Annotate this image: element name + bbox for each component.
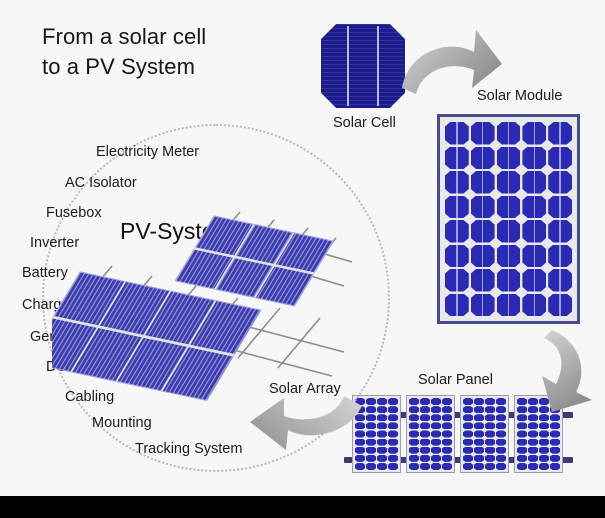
panel-cell (388, 414, 398, 421)
solar-array-graphic (52, 210, 352, 410)
module-cell (548, 294, 572, 317)
panel-cell (409, 406, 419, 413)
module-cell (548, 269, 572, 292)
panel-cell (485, 430, 495, 437)
module-cell (522, 122, 546, 145)
panel-cell (528, 430, 538, 437)
bottom-bar (0, 496, 605, 518)
panel-cell (463, 398, 473, 405)
module-cell (445, 171, 469, 194)
arrow-panel-to-array-icon (244, 392, 368, 456)
panel-cell (474, 463, 484, 470)
panel-cell (550, 463, 560, 470)
panel-cell (517, 430, 527, 437)
panel-cell (388, 398, 398, 405)
panel-cell (528, 439, 538, 446)
panel-cell (485, 455, 495, 462)
panel-cell (388, 439, 398, 446)
panel-cell (550, 422, 560, 429)
panel-cell (485, 398, 495, 405)
panel-cell (474, 430, 484, 437)
panel-cell (409, 430, 419, 437)
panel-cell (420, 439, 430, 446)
panel-cell (377, 447, 387, 454)
module-cell (497, 171, 521, 194)
panel-cell (409, 463, 419, 470)
panel-cell (420, 447, 430, 454)
panel-cell (409, 422, 419, 429)
cell-busbar-1 (347, 26, 349, 106)
panel-cell (409, 455, 419, 462)
panel-cell (496, 455, 506, 462)
panel-cell (550, 414, 560, 421)
panel-cell (496, 406, 506, 413)
module-cell (522, 196, 546, 219)
panel-cell (496, 422, 506, 429)
panel-cell (377, 414, 387, 421)
panel-cell (463, 455, 473, 462)
panel-cell (485, 463, 495, 470)
panel-cell (528, 414, 538, 421)
panel-cell (463, 439, 473, 446)
pv-component-ac-isolator: AC Isolator (65, 175, 137, 191)
arrow-module-to-panel-icon (522, 326, 605, 414)
module-cell (522, 147, 546, 170)
panel-cell (442, 463, 452, 470)
panel-cell (550, 439, 560, 446)
module-cell (548, 220, 572, 243)
pv-component-electricity-meter: Electricity Meter (96, 144, 199, 160)
module-cell (522, 269, 546, 292)
solar-module-graphic (437, 114, 580, 324)
panel-cell (463, 422, 473, 429)
module-cell (497, 294, 521, 317)
module-cell (471, 171, 495, 194)
module-cell (497, 220, 521, 243)
panel-cell (377, 439, 387, 446)
module-cell (471, 220, 495, 243)
module-cell (471, 294, 495, 317)
solar-cell-graphic (321, 24, 405, 108)
module-cell (445, 122, 469, 145)
panel-cell (463, 414, 473, 421)
panel-cell (420, 422, 430, 429)
panel-cell (431, 414, 441, 421)
module-cell (497, 122, 521, 145)
module-cell (445, 269, 469, 292)
panel-cell (377, 422, 387, 429)
panel-cell (442, 439, 452, 446)
panel-cell (366, 463, 376, 470)
module-cell (522, 294, 546, 317)
module-cell (445, 245, 469, 268)
panel-cell (377, 463, 387, 470)
panel-cell (420, 414, 430, 421)
panel-cell (474, 398, 484, 405)
panel-cell (377, 455, 387, 462)
panel-cell (474, 439, 484, 446)
panel-cell (539, 463, 549, 470)
module-cell (471, 122, 495, 145)
panel-cell (550, 455, 560, 462)
module-cell (522, 245, 546, 268)
module-cell (522, 171, 546, 194)
module-cell (522, 220, 546, 243)
panel-cell (485, 439, 495, 446)
solar-panel-label: Solar Panel (418, 372, 493, 388)
solar-module-cell-grid (445, 122, 572, 316)
pv-component-tracking-system: Tracking System (135, 441, 242, 457)
panel-cell (539, 422, 549, 429)
panel-cell (517, 463, 527, 470)
panel-cell (485, 406, 495, 413)
solar-cell-label: Solar Cell (333, 115, 396, 131)
panel-cell (539, 430, 549, 437)
panel-cell (442, 447, 452, 454)
panel-cell (517, 422, 527, 429)
panel-module-2-grid (409, 398, 452, 470)
module-cell (497, 269, 521, 292)
cell-fingers (321, 24, 405, 108)
panel-cell (463, 406, 473, 413)
panel-cell (496, 439, 506, 446)
panel-cell (474, 422, 484, 429)
panel-cell (517, 439, 527, 446)
module-cell (548, 147, 572, 170)
array-panel-group-back (175, 216, 333, 306)
module-cell (445, 147, 469, 170)
diagram-canvas: From a solar cell to a PV System Solar C… (0, 0, 605, 518)
module-cell (471, 269, 495, 292)
module-cell (548, 196, 572, 219)
panel-cell (528, 463, 538, 470)
cell-busbar-2 (377, 26, 379, 106)
panel-cell (431, 422, 441, 429)
panel-cell (442, 414, 452, 421)
panel-cell (377, 406, 387, 413)
panel-cell (474, 455, 484, 462)
panel-cell (485, 414, 495, 421)
panel-cell (409, 398, 419, 405)
panel-cell (517, 447, 527, 454)
panel-cell (388, 430, 398, 437)
module-cell (445, 220, 469, 243)
module-cell (471, 245, 495, 268)
panel-cell (539, 439, 549, 446)
panel-cell (474, 406, 484, 413)
panel-cell (388, 406, 398, 413)
title-line-2: to a PV System (42, 52, 206, 82)
panel-cell (463, 463, 473, 470)
module-cell (471, 196, 495, 219)
panel-cell (420, 406, 430, 413)
panel-cell (528, 447, 538, 454)
panel-cell (485, 447, 495, 454)
module-cell (445, 294, 469, 317)
module-cell (445, 196, 469, 219)
panel-cell (474, 447, 484, 454)
panel-cell (431, 430, 441, 437)
panel-cell (388, 463, 398, 470)
panel-cell (442, 422, 452, 429)
panel-cell (539, 414, 549, 421)
panel-cell (377, 430, 387, 437)
panel-cell (496, 463, 506, 470)
panel-cell (539, 447, 549, 454)
panel-cell (496, 414, 506, 421)
panel-cell (539, 455, 549, 462)
module-cell (497, 147, 521, 170)
panel-cell (377, 398, 387, 405)
panel-cell (550, 447, 560, 454)
panel-module-3-grid (463, 398, 506, 470)
panel-cell (442, 455, 452, 462)
page-title: From a solar cell to a PV System (42, 22, 206, 82)
panel-cell (431, 398, 441, 405)
panel-cell (409, 414, 419, 421)
panel-cell (431, 447, 441, 454)
panel-cell (517, 414, 527, 421)
panel-cell (442, 430, 452, 437)
module-cell (548, 245, 572, 268)
panel-module-3 (460, 395, 509, 473)
panel-cell (496, 398, 506, 405)
panel-cell (431, 406, 441, 413)
panel-cell (442, 398, 452, 405)
module-cell (497, 196, 521, 219)
arrow-cell-to-module-icon (396, 22, 506, 108)
module-cell (548, 171, 572, 194)
panel-cell (474, 414, 484, 421)
module-cell (471, 147, 495, 170)
panel-cell (409, 439, 419, 446)
panel-cell (431, 439, 441, 446)
panel-cell (420, 398, 430, 405)
panel-cell (431, 463, 441, 470)
panel-cell (420, 455, 430, 462)
module-cell (548, 122, 572, 145)
title-line-1: From a solar cell (42, 22, 206, 52)
panel-cell (388, 422, 398, 429)
panel-cell (388, 447, 398, 454)
panel-cell (550, 430, 560, 437)
panel-cell (496, 447, 506, 454)
module-cell (497, 245, 521, 268)
panel-cell (463, 430, 473, 437)
panel-cell (485, 422, 495, 429)
panel-cell (431, 455, 441, 462)
panel-cell (420, 463, 430, 470)
panel-cell (496, 430, 506, 437)
panel-cell (517, 455, 527, 462)
panel-cell (442, 406, 452, 413)
panel-cell (409, 447, 419, 454)
panel-cell (355, 463, 365, 470)
panel-module-2 (406, 395, 455, 473)
panel-cell (528, 455, 538, 462)
panel-cell (528, 422, 538, 429)
panel-cell (420, 430, 430, 437)
panel-cell (463, 447, 473, 454)
panel-cell (388, 455, 398, 462)
pv-component-mounting: Mounting (92, 415, 152, 431)
